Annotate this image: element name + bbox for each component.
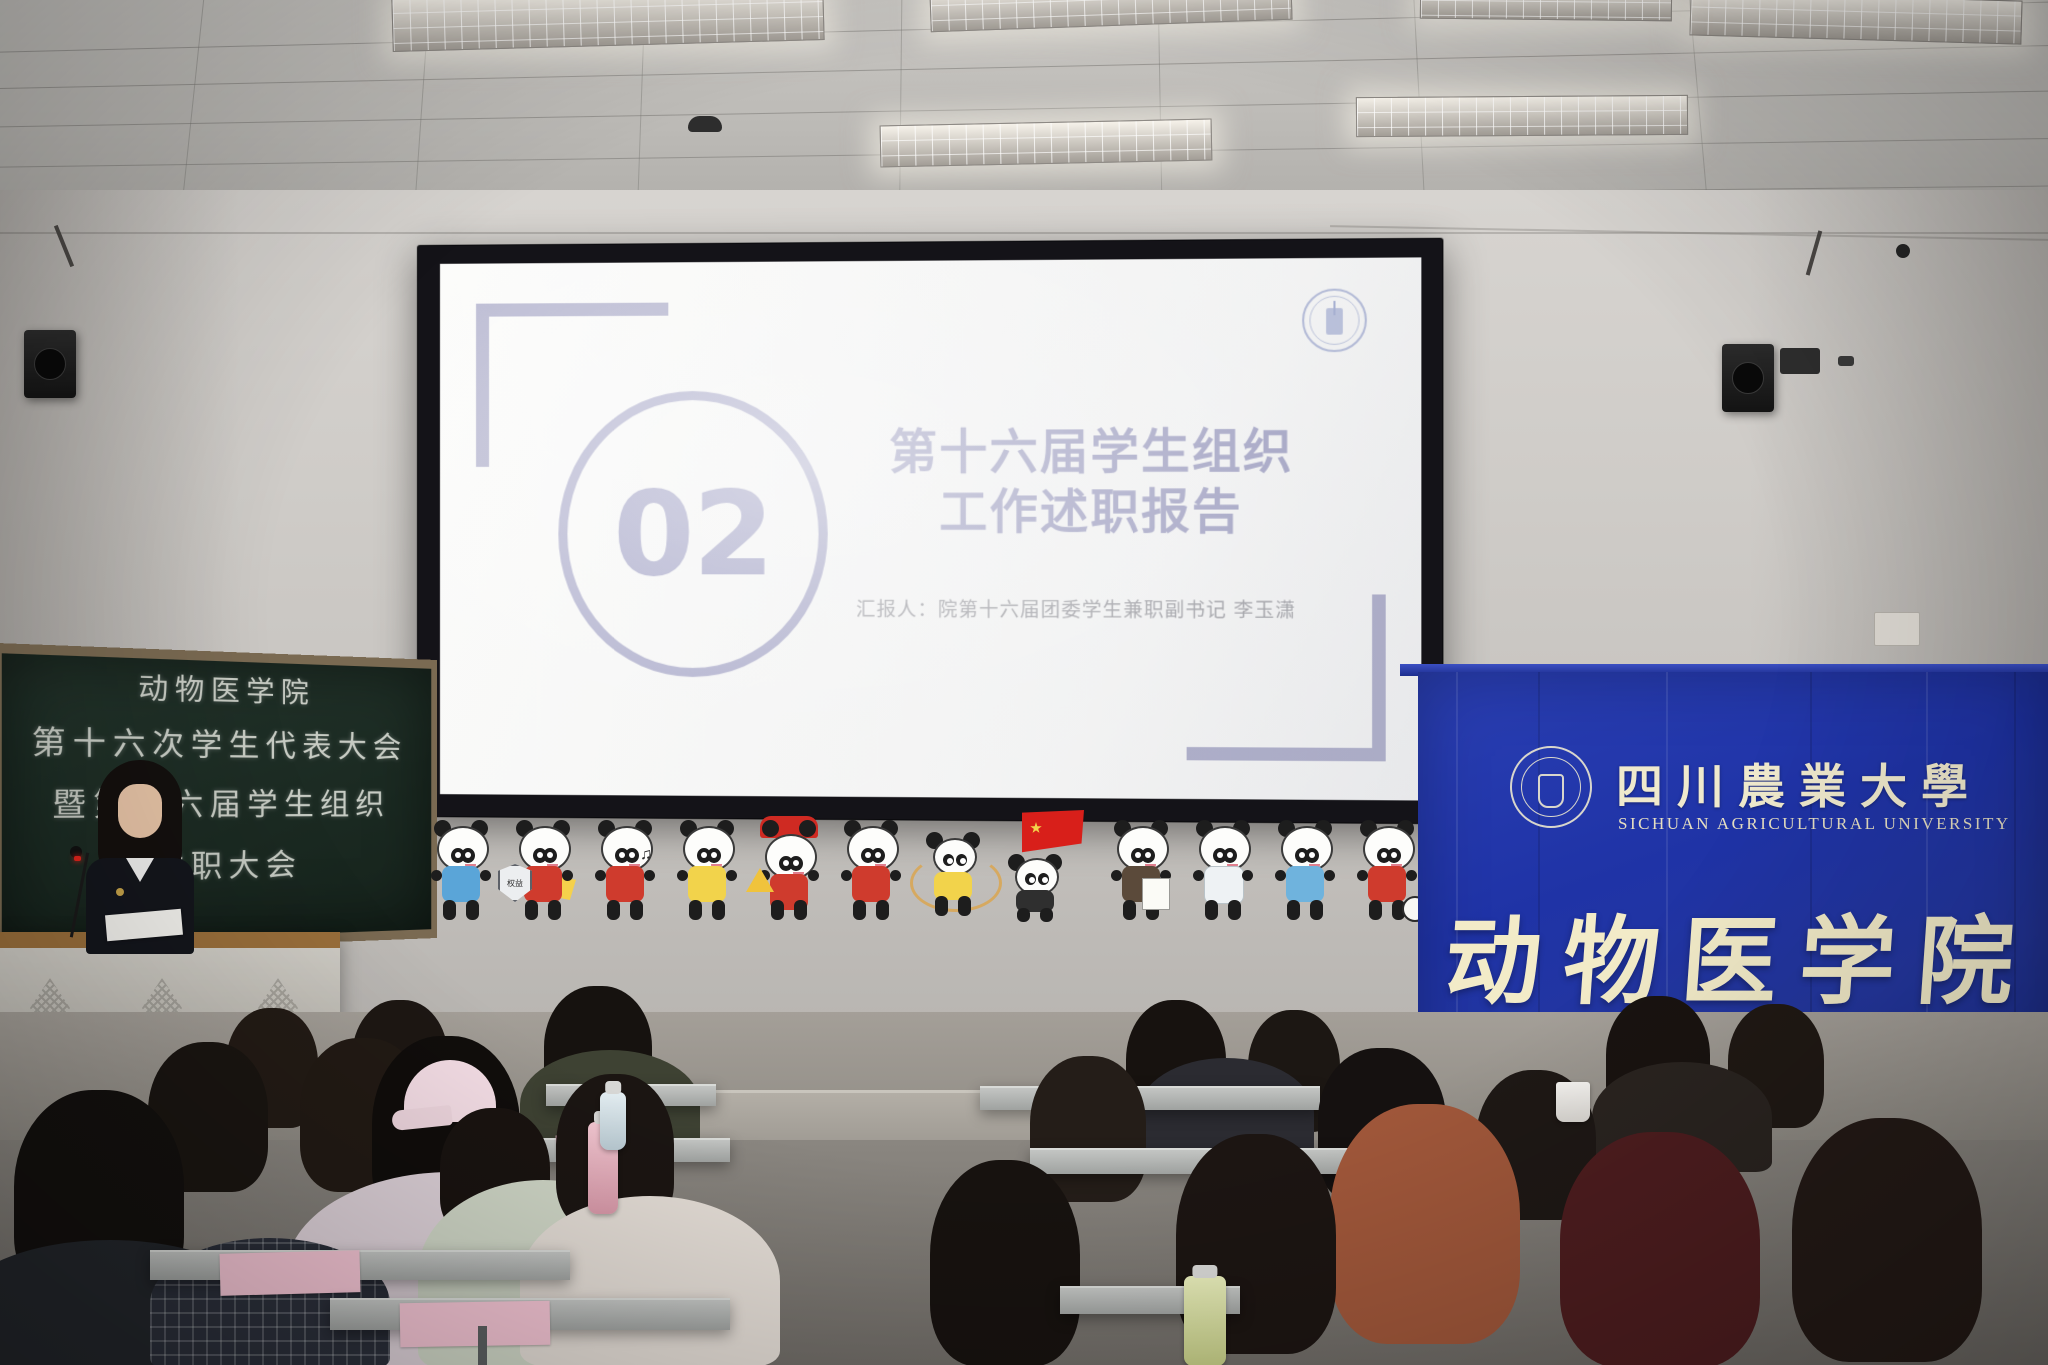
star-icon bbox=[1030, 822, 1042, 834]
section-number-circle: 02 bbox=[558, 391, 827, 678]
banner-university-name-en: SICHUAN AGRICULTURAL UNIVERSITY bbox=[1618, 814, 2011, 834]
slide-title-block: 第十六届学生组织 工作述职报告 bbox=[844, 422, 1340, 542]
panda-hero-icon: 权益 bbox=[512, 820, 574, 924]
panda-officer-icon bbox=[758, 820, 820, 924]
ceiling-light-panel bbox=[1356, 95, 1688, 137]
wall-sensor bbox=[1780, 348, 1820, 374]
paper-cup[interactable] bbox=[1556, 1082, 1590, 1122]
panda-student-icon bbox=[1274, 820, 1336, 924]
desk-leg bbox=[478, 1326, 487, 1365]
wall-sensor bbox=[1838, 356, 1854, 366]
section-number: 02 bbox=[613, 466, 772, 602]
audience-head-foreground bbox=[1330, 1104, 1520, 1344]
projection-screen: 02 第十六届学生组织 工作述职报告 汇报人：院第十六届团委学生兼职副书记 李玉… bbox=[418, 239, 1442, 823]
thermos-bottle[interactable] bbox=[1184, 1276, 1226, 1365]
panda-clipboard-icon bbox=[1110, 820, 1172, 924]
ceiling-light-panel bbox=[1420, 0, 1672, 21]
panda-sticker-rail: 权益 ♫ bbox=[430, 812, 1370, 932]
audience-head-foreground bbox=[1560, 1132, 1760, 1365]
panda-dancer-icon bbox=[676, 820, 738, 924]
panda-bookbag-icon bbox=[430, 820, 492, 924]
clipboard-icon bbox=[1142, 878, 1170, 910]
blackboard-line-4: 述职大会 bbox=[2, 839, 431, 891]
panda-football-icon bbox=[1356, 820, 1418, 924]
banner-seal-icon bbox=[1510, 746, 1592, 828]
blackboard: 动物医学院 第十六次学生代表大会 暨第十六届学生组织 述职大会 bbox=[0, 643, 437, 955]
slide-title-line-1: 第十六届学生组织 bbox=[844, 422, 1340, 483]
warning-triangle-icon bbox=[746, 868, 774, 892]
slide-canvas: 02 第十六届学生组织 工作述职报告 汇报人：院第十六届团委学生兼职副书记 李玉… bbox=[440, 257, 1421, 800]
panda-wreath-icon bbox=[922, 820, 984, 924]
wall-switch-plate[interactable] bbox=[1874, 612, 1920, 646]
wall-speaker-left bbox=[24, 330, 76, 398]
ceiling-light-panel bbox=[880, 119, 1213, 168]
ceiling-sensor-dome bbox=[1896, 244, 1910, 258]
blackboard-line-1: 动物医学院 bbox=[2, 660, 431, 714]
presenter bbox=[80, 760, 200, 950]
slide-title-line-2: 工作述职报告 bbox=[844, 482, 1340, 542]
banner-college-name: 动物医学院 bbox=[1441, 884, 2041, 1023]
ceiling-light-panel bbox=[929, 0, 1292, 32]
panda-flag-icon bbox=[1004, 820, 1066, 924]
audience-head-foreground bbox=[930, 1160, 1080, 1365]
audience-torso-foreground bbox=[520, 1196, 780, 1365]
microphone-led-indicator bbox=[74, 856, 81, 861]
banner-university-name-cn: 四川農業大學 bbox=[1616, 748, 1982, 817]
ceiling-light-panel bbox=[1689, 0, 2022, 45]
ceiling-light-panel bbox=[391, 0, 824, 52]
handout-paper[interactable] bbox=[400, 1301, 551, 1348]
blackboard-line-3: 暨第十六届学生组织 bbox=[2, 779, 431, 826]
ceiling-camera bbox=[688, 116, 722, 132]
panda-uniform-icon bbox=[840, 820, 902, 924]
handout-paper[interactable] bbox=[219, 1250, 360, 1296]
audience-head-foreground bbox=[1792, 1118, 1982, 1362]
wall-speaker-right bbox=[1722, 344, 1774, 412]
music-note-icon: ♫ bbox=[640, 846, 652, 864]
slide-subtitle: 汇报人：院第十六届团委学生兼职副书记 李玉潇 bbox=[773, 595, 1382, 624]
water-bottle[interactable] bbox=[600, 1092, 626, 1150]
lecture-hall-scene: 02 第十六届学生组织 工作述职报告 汇报人：院第十六届团委学生兼职副书记 李玉… bbox=[0, 0, 2048, 1365]
panda-doctor-icon bbox=[1192, 820, 1254, 924]
panda-singer-icon: ♫ bbox=[594, 820, 656, 924]
university-seal-icon bbox=[1302, 288, 1367, 352]
projected-slide: 02 第十六届学生组织 工作述职报告 汇报人：院第十六届团委学生兼职副书记 李玉… bbox=[440, 257, 1421, 800]
red-flag-icon bbox=[1022, 810, 1084, 854]
blackboard-line-2: 第十六次学生代表大会 bbox=[2, 716, 431, 767]
